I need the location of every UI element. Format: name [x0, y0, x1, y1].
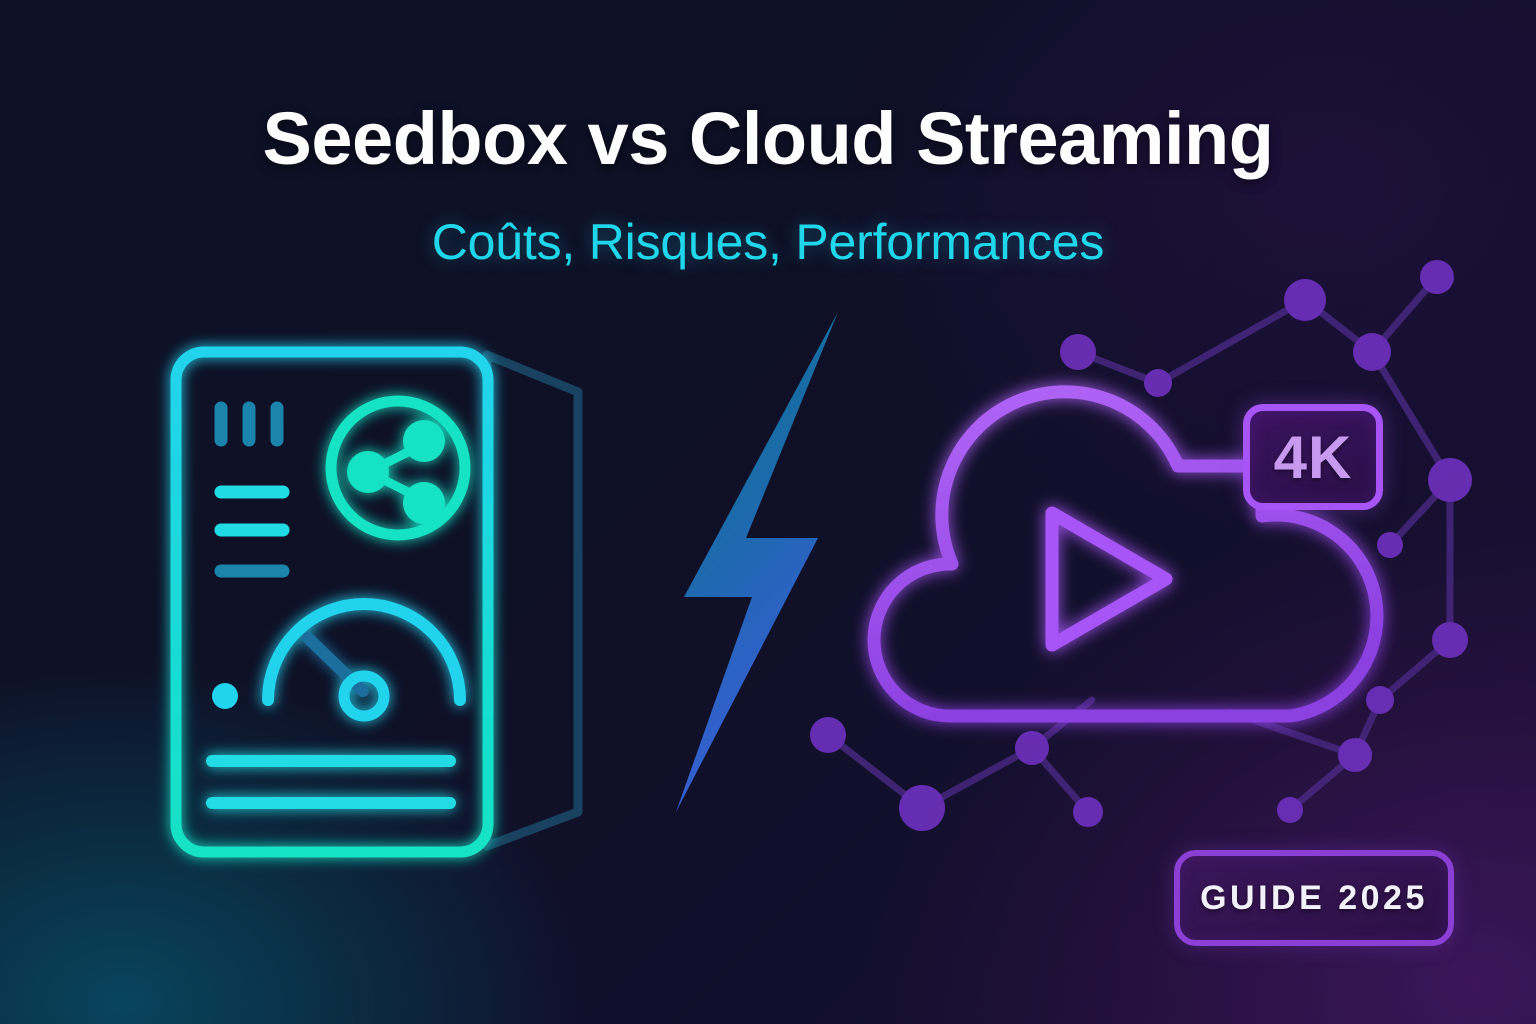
server-status-bars [221, 492, 283, 571]
server-bottom-lines [212, 761, 450, 803]
speed-gauge-icon [268, 604, 460, 716]
share-network-icon [331, 401, 465, 535]
server-vent-ticks [221, 408, 277, 440]
seedbox-server-icon [176, 352, 578, 852]
play-triangle-icon [1052, 513, 1166, 645]
quality-badge-4k: 4K [1243, 404, 1383, 510]
server-indicator-dot [212, 683, 238, 709]
network-nodes-icon [810, 260, 1472, 831]
server-side-panel [487, 355, 578, 846]
infographic-canvas: Seedbox vs Cloud Streaming Coûts, Risque… [0, 0, 1536, 1024]
guide-year-badge: GUIDE 2025 [1174, 850, 1454, 946]
quality-badge-label: 4K [1274, 423, 1353, 492]
guide-year-label: GUIDE 2025 [1200, 879, 1428, 918]
